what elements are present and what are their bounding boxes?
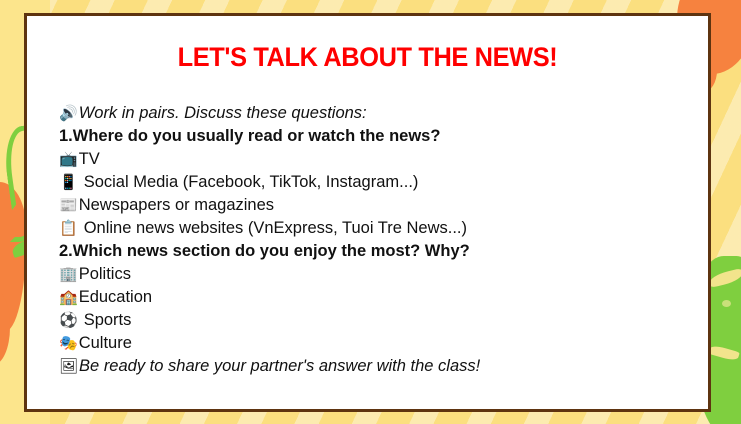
content-body: 🔊 Work in pairs. Discuss these questions… xyxy=(27,102,708,378)
school-building-icon: 🏫 xyxy=(59,286,78,309)
instruction-text: Work in pairs. Discuss these questions: xyxy=(79,102,367,125)
picture-frame-icon: 🖼 xyxy=(59,355,78,378)
list-item: 🎭 Culture xyxy=(59,332,708,355)
page-title: LET'S TALK ABOUT THE NEWS! xyxy=(47,16,687,73)
list-item-label: Social Media (Facebook, TikTok, Instagra… xyxy=(79,171,419,194)
list-item: 🏫 Education xyxy=(59,286,708,309)
green-blob-speck xyxy=(722,300,731,307)
closing-line: 🖼 Be ready to share your partner's answe… xyxy=(59,355,708,378)
question-2-text: 2.Which news section do you enjoy the mo… xyxy=(59,240,470,263)
speaker-icon: 🔊 xyxy=(59,102,78,125)
clipboard-icon: 📋 xyxy=(59,217,78,240)
list-item: 📰 Newspapers or magazines xyxy=(59,194,708,217)
slide-canvas: LET'S TALK ABOUT THE NEWS! 🔊 Work in pai… xyxy=(0,0,741,424)
list-item-label: Education xyxy=(79,286,152,309)
office-building-icon: 🏢 xyxy=(59,263,78,286)
list-item: 📋 Online news websites (VnExpress, Tuoi … xyxy=(59,217,708,240)
question-1-text: 1.Where do you usually read or watch the… xyxy=(59,125,440,148)
list-item-label: Politics xyxy=(79,263,131,286)
soccer-ball-icon: ⚽ xyxy=(59,309,78,332)
television-icon: 📺 xyxy=(59,148,78,171)
list-item: 🏢 Politics xyxy=(59,263,708,286)
list-item: 📱 Social Media (Facebook, TikTok, Instag… xyxy=(59,171,708,194)
list-item: ⚽ Sports xyxy=(59,309,708,332)
content-card: LET'S TALK ABOUT THE NEWS! 🔊 Work in pai… xyxy=(24,13,711,412)
list-item-label: Culture xyxy=(79,332,132,355)
performing-arts-icon: 🎭 xyxy=(59,332,78,355)
question-2: 2.Which news section do you enjoy the mo… xyxy=(59,240,708,263)
list-item-label: Sports xyxy=(79,309,132,332)
list-item-label: Online news websites (VnExpress, Tuoi Tr… xyxy=(79,217,467,240)
closing-text: Be ready to share your partner's answer … xyxy=(79,355,480,378)
instruction-line: 🔊 Work in pairs. Discuss these questions… xyxy=(59,102,708,125)
newspaper-icon: 📰 xyxy=(59,194,78,217)
list-item: 📺 TV xyxy=(59,148,708,171)
mobile-phone-icon: 📱 xyxy=(59,171,78,194)
question-1: 1.Where do you usually read or watch the… xyxy=(59,125,708,148)
list-item-label: TV xyxy=(79,148,100,171)
list-item-label: Newspapers or magazines xyxy=(79,194,274,217)
